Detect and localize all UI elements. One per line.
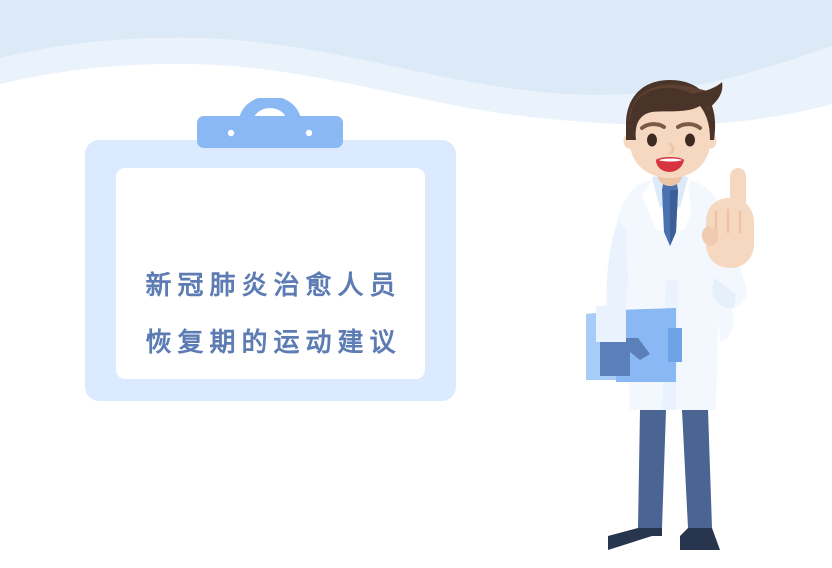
left-leg (638, 410, 666, 528)
notice-title: 新冠肺炎治愈人员 恢复期的运动建议 (85, 258, 456, 372)
notice-title-line-2: 恢复期的运动建议 (85, 315, 456, 372)
doctor-legs (638, 410, 712, 528)
doctor-pointing-hand (702, 168, 754, 268)
doctor-figure (560, 80, 832, 568)
eye-right (685, 134, 695, 147)
folder-tab (668, 328, 682, 362)
notice-board: 新冠肺炎治愈人员 恢复期的运动建议 (85, 140, 456, 401)
clipboard-clip-icon (195, 98, 345, 148)
notice-title-line-1: 新冠肺炎治愈人员 (85, 258, 456, 315)
poster-canvas: 新冠肺炎治愈人员 恢复期的运动建议 (0, 0, 832, 568)
right-shoe (680, 528, 720, 550)
doctor-illustration (560, 80, 832, 568)
doctor-left-arm (586, 304, 682, 382)
clip-bar (197, 116, 343, 148)
eye-left (647, 134, 657, 147)
clip-hole-right (306, 130, 312, 136)
clip-hole-left (228, 130, 234, 136)
coat-cuff (596, 304, 626, 342)
doctor-head (623, 80, 722, 178)
doctor-shoes (608, 528, 720, 550)
left-shoe (608, 528, 662, 550)
right-leg (682, 410, 712, 528)
